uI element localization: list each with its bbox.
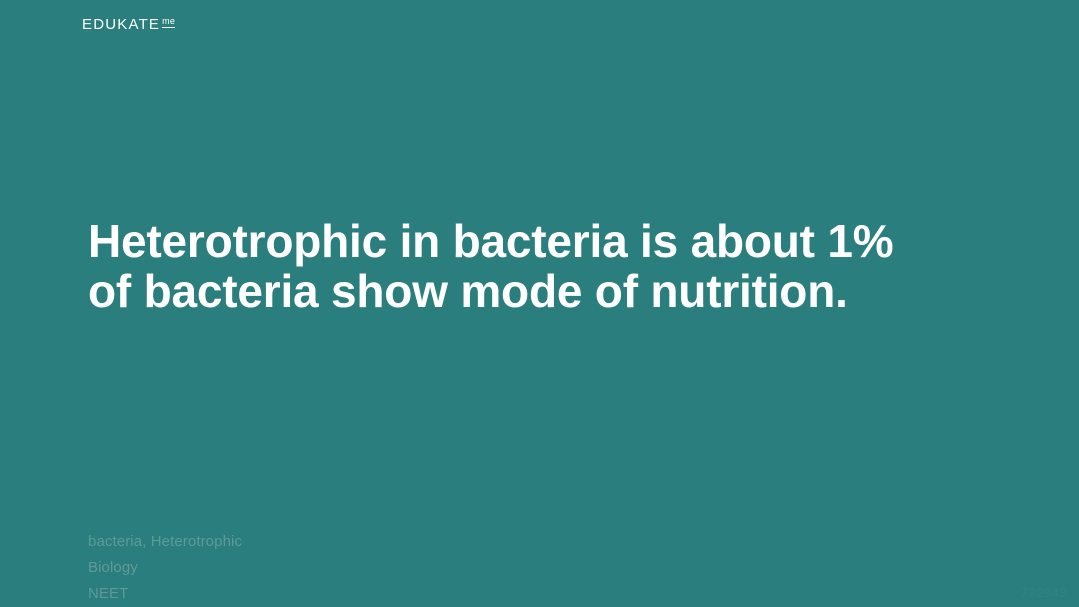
edukate-logo[interactable]: EDUKATE me bbox=[82, 16, 175, 34]
footer-metadata: bacteria, Heterotrophic Biology NEET bbox=[88, 529, 242, 607]
page-title: Heterotrophic in bacteria is about 1% of… bbox=[88, 216, 948, 316]
meta-exam: NEET bbox=[88, 581, 242, 607]
brand-name: EDUKATE bbox=[82, 16, 160, 34]
meta-tags: bacteria, Heterotrophic bbox=[88, 529, 242, 555]
slide-id: 732943 bbox=[1021, 585, 1067, 601]
meta-subject: Biology bbox=[88, 555, 242, 581]
slide-canvas: EDUKATE me Heterotrophic in bacteria is … bbox=[0, 0, 1079, 607]
brand-suffix: me bbox=[162, 17, 175, 28]
